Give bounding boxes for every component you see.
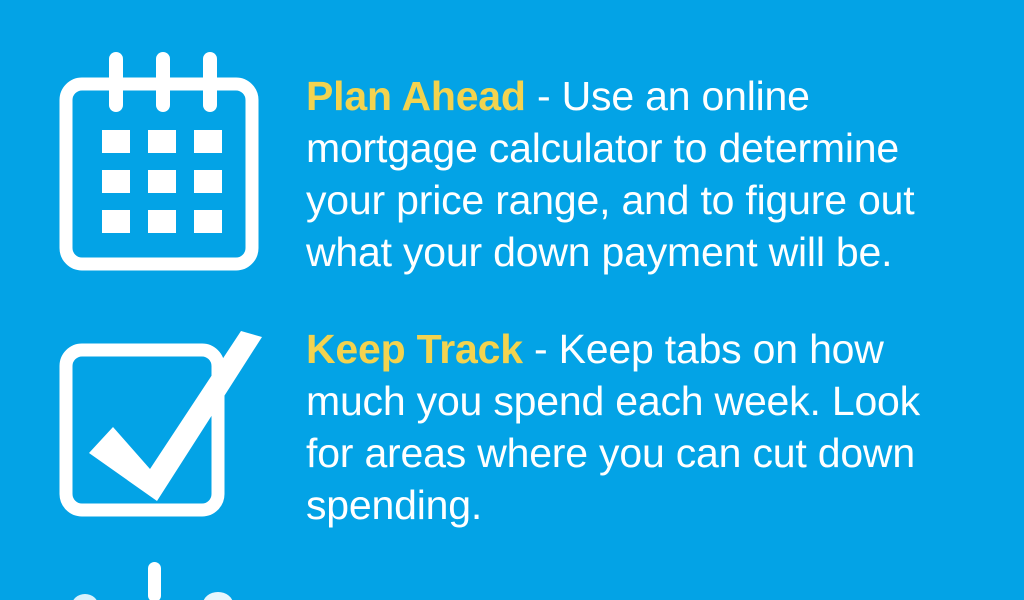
- tip-plan-ahead-separator: -: [526, 73, 562, 119]
- tip-keep-track-title: Keep Track: [306, 326, 523, 372]
- infographic-canvas: Plan Ahead - Use an online mortgage calc…: [0, 0, 1024, 600]
- checkbox-check-icon: [56, 325, 276, 525]
- tip-keep-track-text: Keep Track - Keep tabs on how much you s…: [306, 323, 956, 531]
- tip-plan-ahead-text: Plan Ahead - Use an online mortgage calc…: [306, 70, 956, 278]
- piggy-bank-icon: [56, 552, 286, 600]
- tip-plan-ahead-title: Plan Ahead: [306, 73, 526, 119]
- tip-keep-track-separator: -: [523, 326, 559, 372]
- calendar-icon: [56, 50, 276, 280]
